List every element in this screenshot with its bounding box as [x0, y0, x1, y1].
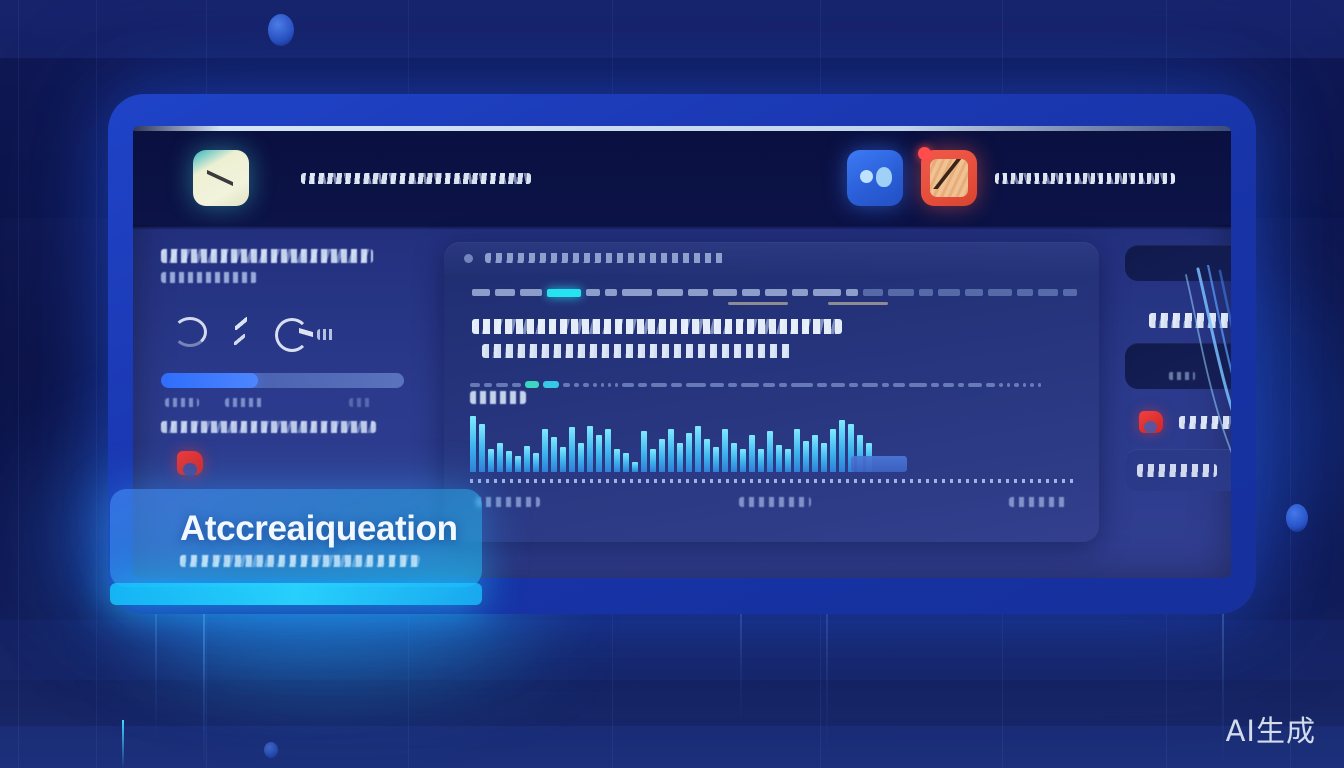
bg-gridline: [18, 0, 19, 768]
card-header-dot-icon: [464, 254, 473, 263]
bg-streak: [203, 600, 205, 768]
left-panel-stats: [161, 317, 404, 347]
chart-bar: [542, 429, 548, 472]
chart-topline-dash: [563, 383, 570, 387]
banner-accent-bar: [110, 583, 482, 605]
tab-segment-active[interactable]: [547, 289, 581, 297]
chart-topline-dash: [986, 383, 995, 387]
chart-bar: [488, 449, 494, 472]
bg-band-top: [0, 0, 1344, 58]
chart-topline-dash: [512, 383, 521, 387]
tab-segment[interactable]: [1063, 289, 1077, 296]
right-panel-label: [1149, 313, 1231, 328]
progress-meta-value: [349, 398, 371, 407]
chart-axis-labels: [470, 497, 1075, 507]
chart-bar: [497, 443, 503, 472]
chart-topline-dash: [710, 383, 724, 387]
chart-bar: [686, 433, 692, 472]
chart-topline-dash: [574, 383, 579, 387]
tab-segment[interactable]: [888, 289, 914, 296]
tab-segment[interactable]: [742, 289, 760, 296]
chart-value-label: [470, 391, 526, 404]
note-app-icon[interactable]: [193, 150, 249, 206]
tab-segment[interactable]: [1017, 289, 1033, 296]
progress-section: [161, 373, 404, 407]
chart-topline: [470, 380, 1075, 389]
chart-topline-dash: [943, 383, 954, 387]
bolt-glyph-icon: [233, 317, 249, 347]
right-panel: [1113, 225, 1231, 578]
gauge-glyph-icon: [173, 317, 207, 347]
chart-bar: [641, 431, 647, 472]
chart-topline-dash: [893, 383, 905, 387]
bg-dot: [264, 742, 278, 758]
bg-dot: [1286, 504, 1308, 532]
chart-bar: [839, 420, 845, 472]
tab-segment[interactable]: [713, 289, 737, 296]
score-glyph-icon: [275, 317, 337, 347]
bg-gridline: [1290, 0, 1291, 768]
chart-topline-dash: [779, 383, 787, 387]
chart-bar: [677, 443, 683, 472]
left-panel-note: [161, 421, 376, 433]
tab-segment[interactable]: [863, 289, 883, 296]
chart-topline-dash: [909, 383, 927, 387]
chart-bar: [740, 449, 746, 472]
alerts-badge-icon[interactable]: [921, 150, 977, 206]
right-stat-row[interactable]: [1125, 411, 1231, 433]
chart-bar: [731, 443, 737, 472]
bg-streak: [122, 720, 124, 768]
chart-topline-dash: [763, 383, 775, 387]
chart-topline-dash: [622, 383, 634, 387]
chart-bar: [551, 437, 557, 472]
chart-bar: [578, 443, 584, 472]
card-body-line: [482, 344, 792, 358]
chart-topline-dash: [470, 383, 480, 387]
chart-topline-dash: [1023, 383, 1026, 387]
hero-banner: Atccreaiqueation: [110, 489, 482, 587]
chart-bar: [479, 424, 485, 472]
main-card: [444, 242, 1099, 542]
tab-segment[interactable]: [688, 289, 708, 296]
topbar-right-group: [847, 150, 1175, 206]
chart-topline-dash: [728, 383, 737, 387]
chart-axis-label: [476, 497, 540, 507]
chart-bar: [470, 416, 476, 472]
tab-segment[interactable]: [495, 289, 515, 296]
card-body-line: [472, 319, 842, 334]
tab-segment[interactable]: [1038, 289, 1058, 296]
bg-streak: [155, 612, 157, 742]
app-title-text: [301, 173, 531, 184]
center-panel: [430, 225, 1113, 578]
chart-bar: [596, 435, 602, 472]
chart-topline-dash: [671, 383, 682, 387]
score-glyph-suffix: [317, 329, 335, 340]
chart-topline-dash: [999, 383, 1003, 387]
chart-bar: [821, 443, 827, 472]
banner-subtitle: [180, 555, 420, 567]
chart-topline-dash: [791, 383, 813, 387]
tab-underline: [728, 302, 788, 305]
bg-gridline: [96, 0, 97, 768]
chart-topline-dash: [1038, 383, 1041, 387]
red-alert-icon[interactable]: [177, 451, 203, 475]
chart-topline-dash: [638, 383, 647, 387]
bg-band-bottom: [0, 726, 1344, 768]
chart-bar: [650, 449, 656, 472]
chart-axis-label: [1009, 497, 1069, 507]
tab-segment[interactable]: [586, 289, 600, 296]
chart-topline-dash: [651, 383, 667, 387]
progress-meta-value: [225, 398, 265, 407]
progress-meta-row: [161, 398, 404, 407]
chart-bar: [605, 429, 611, 472]
tab-segment[interactable]: [520, 289, 542, 296]
progress-bar-fill: [161, 373, 258, 388]
chart-bar: [776, 445, 782, 472]
chart-bar: [533, 453, 539, 472]
red-tag-icon: [1139, 411, 1163, 433]
tab-segment[interactable]: [657, 289, 683, 296]
tab-segment[interactable]: [472, 289, 490, 296]
messages-badge-icon[interactable]: [847, 150, 903, 206]
chart-bar: [569, 427, 575, 472]
card-header: [444, 242, 1099, 274]
chart-bar: [785, 449, 791, 472]
tab-segment[interactable]: [605, 289, 617, 296]
chart-bar: [695, 426, 701, 472]
chart-topline-dash: [1007, 383, 1010, 387]
chart-topline-dash: [931, 383, 939, 387]
chart-topline-dash: [484, 383, 492, 387]
left-panel-title: [161, 249, 373, 263]
chart-axis-label: [739, 497, 811, 507]
tab-segment[interactable]: [938, 289, 960, 296]
tab-segment[interactable]: [792, 289, 808, 296]
chart-bar: [812, 435, 818, 472]
chart-bar: [704, 439, 710, 472]
chart-topline-dash: [849, 383, 858, 387]
chart-bar: [722, 429, 728, 472]
chart-bar: [830, 429, 836, 472]
left-panel-subtitle: [161, 272, 257, 283]
legend-value: [1169, 372, 1195, 380]
tab-segment[interactable]: [988, 289, 1012, 296]
chart-topline-dash: [1014, 383, 1019, 387]
app-topbar: [133, 131, 1231, 225]
chart-bar: [659, 439, 665, 472]
right-toggle-label: [1137, 464, 1217, 477]
right-stat-text: [1179, 416, 1231, 429]
tab-segment[interactable]: [846, 289, 858, 296]
chart-topline-dash: [615, 383, 618, 387]
card-header-title: [485, 253, 725, 263]
chart-bar: [587, 426, 593, 472]
tab-segment-bar[interactable]: [472, 287, 1077, 298]
card-body: [444, 305, 1099, 358]
tab-underline: [828, 302, 888, 305]
chart-topline-dash: [593, 383, 597, 387]
chart-topline-dash: [958, 383, 964, 387]
chart-baseline-axis: [470, 479, 1075, 483]
notification-dot-icon: [918, 147, 931, 160]
chart-topline-dash: [686, 383, 706, 387]
chart-topline-dash: [608, 383, 611, 387]
bg-dot: [268, 14, 294, 46]
chart-bar: [713, 447, 719, 472]
chart-topline-dash: [817, 383, 827, 387]
chart-bar: [560, 447, 566, 472]
chart-bar: [515, 456, 521, 472]
chart-topline-dash: [831, 383, 845, 387]
bg-streak: [1222, 604, 1224, 768]
bg-streak: [740, 604, 742, 724]
tab-segment[interactable]: [919, 289, 933, 296]
tab-segment[interactable]: [622, 289, 652, 296]
chart-bars: [470, 410, 1075, 472]
banner-title: Atccreaiqueation: [180, 511, 482, 546]
chart-bar: [524, 446, 530, 472]
chart-bar: [506, 451, 512, 472]
chart-topline-dash: [601, 383, 604, 387]
ai-watermark: AI生成: [1226, 708, 1316, 750]
chart-topline-dash: [741, 383, 759, 387]
chart-topline-dash: [968, 383, 982, 387]
chart-bar: [614, 449, 620, 472]
chart-topline-dash: [496, 383, 508, 387]
bg-streak: [826, 606, 828, 758]
bg-band-low: [0, 620, 1344, 680]
chart-bar: [632, 462, 638, 472]
chart-bar: [668, 429, 674, 472]
chart-topline-dash: [882, 383, 889, 387]
chart-topline-marker: [543, 381, 559, 388]
right-legend-row: [1125, 372, 1231, 380]
tab-segment[interactable]: [813, 289, 841, 296]
chart-bar: [623, 453, 629, 472]
chart-bar: [749, 435, 755, 472]
right-card-legend[interactable]: [1125, 343, 1231, 389]
chart-bar: [767, 431, 773, 472]
chart-topline-marker: [525, 381, 539, 388]
chart-topline-dash: [1030, 383, 1034, 387]
bar-chart: [470, 380, 1075, 507]
progress-bar[interactable]: [161, 373, 404, 388]
chart-bar: [794, 429, 800, 472]
right-card-top[interactable]: [1125, 245, 1231, 281]
chart-bar: [758, 449, 764, 472]
progress-meta-value: [165, 398, 199, 407]
tab-segment[interactable]: [765, 289, 787, 296]
chart-bar: [803, 441, 809, 472]
chart-highlight-block: [851, 456, 907, 472]
chart-topline-dash: [862, 383, 878, 387]
user-name-text: [995, 173, 1175, 184]
chart-topline-dash: [583, 383, 589, 387]
right-toggle-row[interactable]: [1125, 449, 1231, 491]
tab-segment[interactable]: [965, 289, 983, 296]
